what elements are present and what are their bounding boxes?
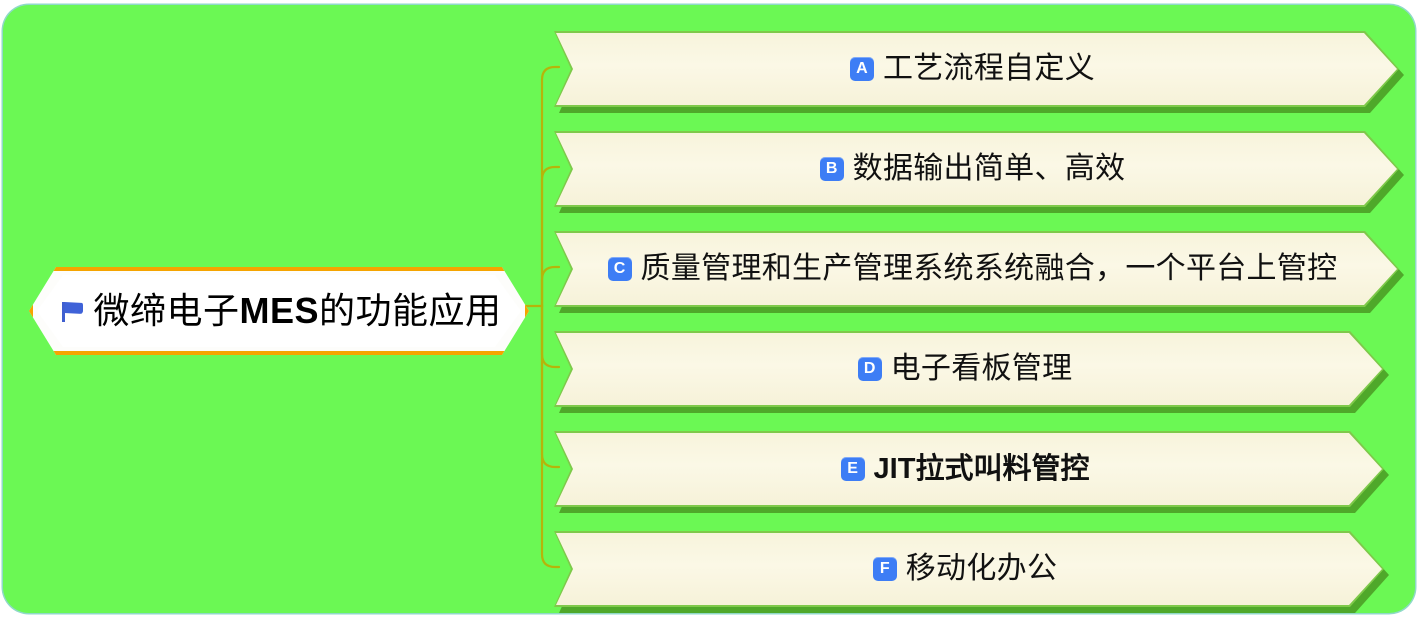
- branch-badge-d: D: [858, 357, 882, 381]
- root-node[interactable]: 微缔电子MES的功能应用: [29, 267, 529, 355]
- branch-node-c[interactable]: C 质量管理和生产管理系统系统融合，一个平台上管控: [554, 231, 1399, 307]
- branch-label-b: 数据输出简单、高效: [853, 154, 1126, 184]
- branch-badge-f: F: [873, 557, 897, 581]
- root-node-label-wrap: 微缔电子MES的功能应用: [29, 267, 529, 355]
- branch-label-c: 质量管理和生产管理系统系统融合，一个平台上管控: [641, 254, 1338, 284]
- branch-node-d[interactable]: D 电子看板管理: [554, 331, 1384, 407]
- branch-badge-c: C: [608, 257, 632, 281]
- branch-node-b-content: B 数据输出简单、高效: [554, 131, 1399, 207]
- root-label-bold: MES: [239, 290, 319, 331]
- flag-icon: [62, 298, 84, 324]
- root-label-prefix: 微缔电子: [93, 291, 239, 331]
- branch-label-f: 移动化办公: [906, 554, 1058, 584]
- branch-node-e[interactable]: E JIT拉式叫料管控: [554, 431, 1384, 507]
- root-node-label: 微缔电子MES的功能应用: [93, 293, 501, 329]
- branch-node-e-content: E JIT拉式叫料管控: [554, 431, 1384, 507]
- branch-label-a: 工艺流程自定义: [883, 54, 1095, 84]
- branch-node-f-content: F 移动化办公: [554, 531, 1384, 607]
- flag-cloth: [64, 302, 83, 314]
- mindmap-canvas: 微缔电子MES的功能应用 A 工艺流程自定义 B 数据输出简单、高效 C 质量管…: [3, 5, 1415, 613]
- branch-badge-b: B: [820, 157, 844, 181]
- branch-label-d: 电子看板管理: [891, 354, 1073, 384]
- branch-badge-e: E: [841, 457, 865, 481]
- branch-node-a-content: A 工艺流程自定义: [554, 31, 1399, 107]
- branch-node-c-content: C 质量管理和生产管理系统系统融合，一个平台上管控: [554, 231, 1399, 307]
- branch-node-a[interactable]: A 工艺流程自定义: [554, 31, 1399, 107]
- branch-label-e: JIT拉式叫料管控: [874, 455, 1090, 484]
- branch-node-b[interactable]: B 数据输出简单、高效: [554, 131, 1399, 207]
- branch-badge-a: A: [850, 57, 874, 81]
- branch-node-f[interactable]: F 移动化办公: [554, 531, 1384, 607]
- branch-node-d-content: D 电子看板管理: [554, 331, 1384, 407]
- root-label-suffix: 的功能应用: [319, 291, 502, 331]
